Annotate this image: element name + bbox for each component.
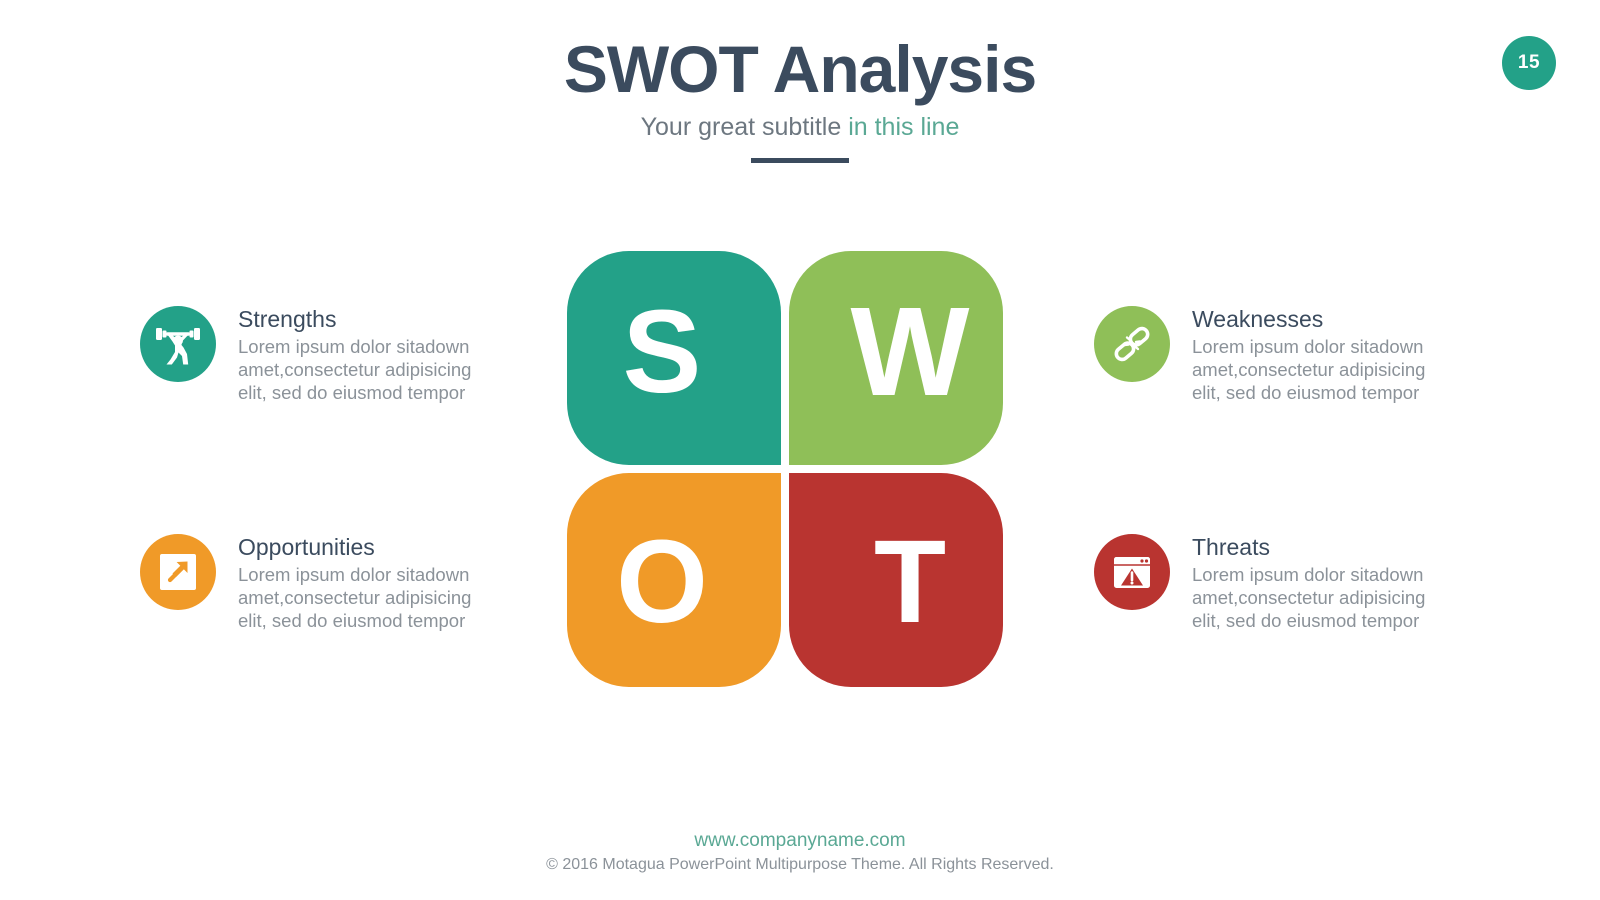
feature-description: Lorem ipsum dolor sitadown amet,consecte… xyxy=(1192,563,1440,632)
petal-letter-o: O xyxy=(616,523,708,641)
feature-text: Weaknesses Lorem ipsum dolor sitadown am… xyxy=(1170,306,1440,405)
footer-copyright: © 2016 Motagua PowerPoint Multipurpose T… xyxy=(0,854,1600,876)
petal-opportunities[interactable]: O xyxy=(567,473,781,687)
feature-description: Lorem ipsum dolor sitadown amet,consecte… xyxy=(238,563,486,632)
petal-strengths[interactable]: S xyxy=(567,251,781,465)
feature-threats[interactable]: Threats Lorem ipsum dolor sitadown amet,… xyxy=(1094,534,1440,633)
swot-diagram: S W O T xyxy=(567,251,1003,687)
feature-text: Strengths Lorem ipsum dolor sitadown ame… xyxy=(216,306,486,405)
arrow-up-right-square-icon xyxy=(140,534,216,610)
feature-title: Strengths xyxy=(238,306,486,333)
page-subtitle: Your great subtitle in this line xyxy=(0,113,1600,142)
feature-weaknesses[interactable]: Weaknesses Lorem ipsum dolor sitadown am… xyxy=(1094,306,1440,405)
header: SWOT Analysis Your great subtitle in thi… xyxy=(0,34,1600,163)
title-underline-rule xyxy=(751,158,849,163)
feature-strengths[interactable]: Strengths Lorem ipsum dolor sitadown ame… xyxy=(140,306,486,405)
window-warning-icon xyxy=(1094,534,1170,610)
petal-letter-s: S xyxy=(623,293,702,411)
feature-title: Weaknesses xyxy=(1192,306,1440,333)
page-title: SWOT Analysis xyxy=(0,34,1600,105)
subtitle-plain: Your great subtitle xyxy=(641,113,849,141)
footer-website-link[interactable]: www.companyname.com xyxy=(0,828,1600,854)
subtitle-accent: in this line xyxy=(848,113,959,141)
weightlifter-icon xyxy=(140,306,216,382)
slide: 15 SWOT Analysis Your great subtitle in … xyxy=(0,0,1600,900)
petal-letter-t: T xyxy=(874,523,946,641)
broken-chain-icon xyxy=(1094,306,1170,382)
petal-threats[interactable]: T xyxy=(789,473,1003,687)
feature-text: Opportunities Lorem ipsum dolor sitadown… xyxy=(216,534,486,633)
feature-title: Opportunities xyxy=(238,534,486,561)
feature-description: Lorem ipsum dolor sitadown amet,consecte… xyxy=(1192,335,1440,404)
feature-text: Threats Lorem ipsum dolor sitadown amet,… xyxy=(1170,534,1440,633)
petal-weaknesses[interactable]: W xyxy=(789,251,1003,465)
footer: www.companyname.com © 2016 Motagua Power… xyxy=(0,828,1600,876)
feature-title: Threats xyxy=(1192,534,1440,561)
feature-opportunities[interactable]: Opportunities Lorem ipsum dolor sitadown… xyxy=(140,534,486,633)
feature-description: Lorem ipsum dolor sitadown amet,consecte… xyxy=(238,335,486,404)
petal-letter-w: W xyxy=(851,289,970,415)
